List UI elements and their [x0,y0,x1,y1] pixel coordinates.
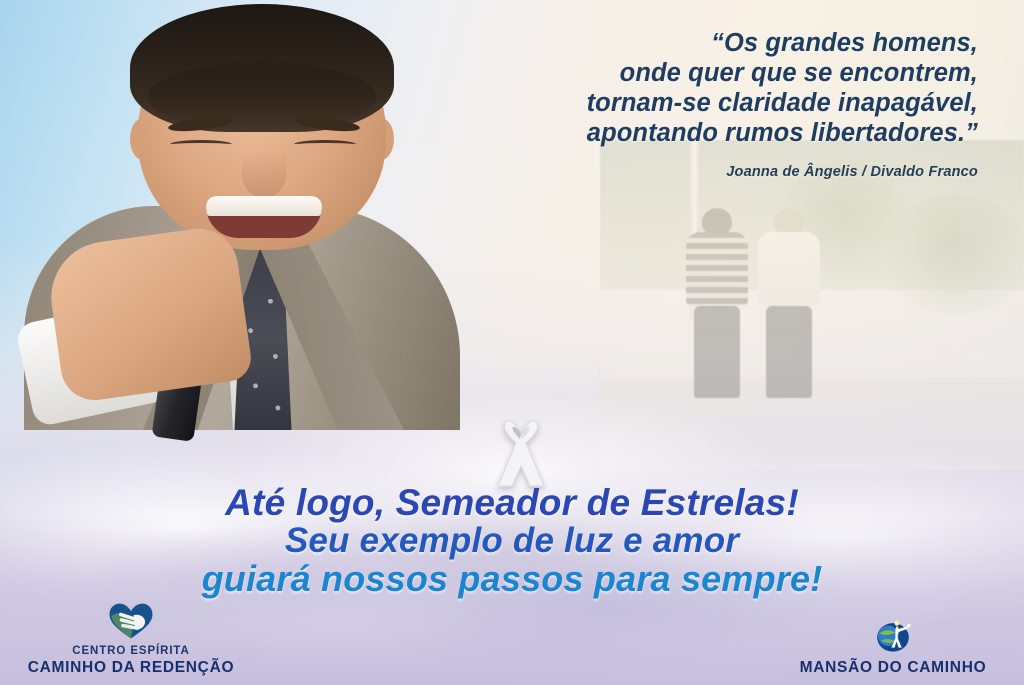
portrait-smiling-mouth [206,196,322,238]
headline-line-1: Até logo, Semeador de Estrelas! [0,484,1024,522]
logo-right-line-1: MANSÃO DO CAMINHO [768,658,1018,677]
background-photo-two-walkers [600,140,1024,470]
white-ribbon-icon [486,408,556,492]
portrait-nose [242,150,286,198]
quote-line-4: apontando rumos libertadores.” [358,118,978,148]
logo-mansao-do-caminho: MANSÃO DO CAMINHO [768,618,1018,677]
photo-figure-white-shirt [758,208,820,398]
logo-left-line-1: CENTRO ESPÍRITA [6,644,256,658]
quote-line-2: onde quer que se encontrem, [358,58,978,88]
quote-line-3: tornam-se claridade inapagável, [358,88,978,118]
photo-palm-icon [880,195,1024,315]
quote-attribution: Joanna de Ângelis / Divaldo Franco [358,164,978,180]
portrait-eye-closed [170,140,232,149]
logo-left-line-2: CAMINHO DA REDENÇÃO [6,658,256,677]
headline-line-2: Seu exemplo de luz e amor [0,522,1024,560]
logo-centro-espirita: CENTRO ESPÍRITA CAMINHO DA REDENÇÃO [6,604,256,677]
portrait-hand [44,224,254,405]
headline-block: Até logo, Semeador de Estrelas! Seu exem… [0,484,1024,598]
photo-figure-striped-shirt [686,208,748,398]
heart-hands-icon [6,604,256,640]
poster-canvas: “Os grandes homens, onde quer que se enc… [0,0,1024,685]
portrait-eye-closed [294,140,356,149]
headline-line-3: guiará nossos passos para sempre! [0,560,1024,598]
globe-figure-icon [768,618,1018,654]
quote-line-1: “Os grandes homens, [358,28,978,58]
quote-block: “Os grandes homens, onde quer que se enc… [358,28,978,180]
portrait-hair [130,4,394,132]
